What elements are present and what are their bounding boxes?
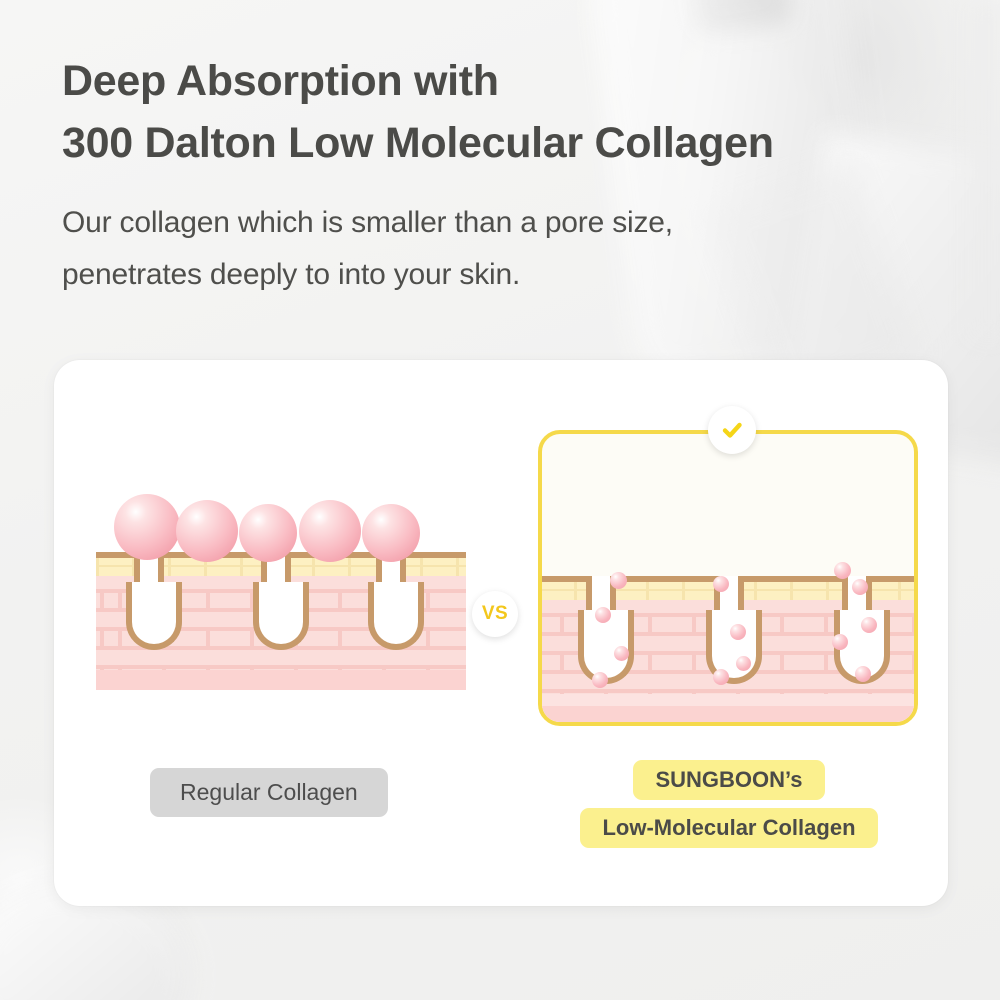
pore-cavity [368, 582, 424, 650]
page-subtitle-line-1: Our collagen which is smaller than a por… [62, 197, 962, 250]
dermis-base-band [96, 670, 466, 690]
comparison-card: VS Regular Collagen SUNGBOON’s Low-Molec… [54, 360, 948, 906]
collagen-molecule-large [299, 500, 361, 562]
collagen-molecule-small [861, 617, 877, 633]
collagen-molecule-large [176, 500, 238, 562]
low-molecular-collagen-diagram [538, 430, 918, 726]
check-badge [708, 406, 756, 454]
skin-cross-section-left [96, 552, 466, 690]
collagen-molecule-small [614, 646, 629, 661]
collagen-molecule-small [852, 579, 868, 595]
skin-cross-section-right [538, 576, 918, 726]
collagen-molecule-large [362, 504, 420, 562]
brand-caption-line-1: SUNGBOON’s [633, 760, 824, 800]
page-title-line-2: 300 Dalton Low Molecular Collagen [62, 112, 962, 174]
collagen-molecule-small [713, 669, 729, 685]
regular-collagen-diagram [96, 490, 466, 690]
page-title-line-1: Deep Absorption with [62, 50, 962, 112]
low-molecular-caption-group: SUNGBOON’s Low-Molecular Collagen [576, 760, 882, 848]
collagen-molecule-small [736, 656, 751, 671]
collagen-molecule-small [610, 572, 627, 589]
pore-cavity [253, 582, 309, 650]
page-subtitle-line-2: penetrates deeply to into your skin. [62, 249, 962, 302]
background-right-edge-shade [960, 0, 1000, 340]
collagen-molecule-large [239, 504, 297, 562]
vs-badge: VS [472, 591, 518, 637]
header-block: Deep Absorption with 300 Dalton Low Mole… [62, 50, 962, 302]
dermis-base-band [538, 706, 918, 726]
check-icon [719, 417, 745, 443]
collagen-molecule-small [834, 562, 851, 579]
collagen-molecule-large [114, 494, 180, 560]
collagen-molecule-small [730, 624, 746, 640]
collagen-molecule-small [832, 634, 848, 650]
pore-cavity [126, 582, 182, 650]
collagen-molecule-small [595, 607, 611, 623]
regular-collagen-caption: Regular Collagen [150, 768, 388, 817]
collagen-molecule-small [855, 666, 871, 682]
brand-caption-line-2: Low-Molecular Collagen [580, 808, 877, 848]
collagen-molecule-small [713, 576, 729, 592]
collagen-molecule-small [592, 672, 608, 688]
